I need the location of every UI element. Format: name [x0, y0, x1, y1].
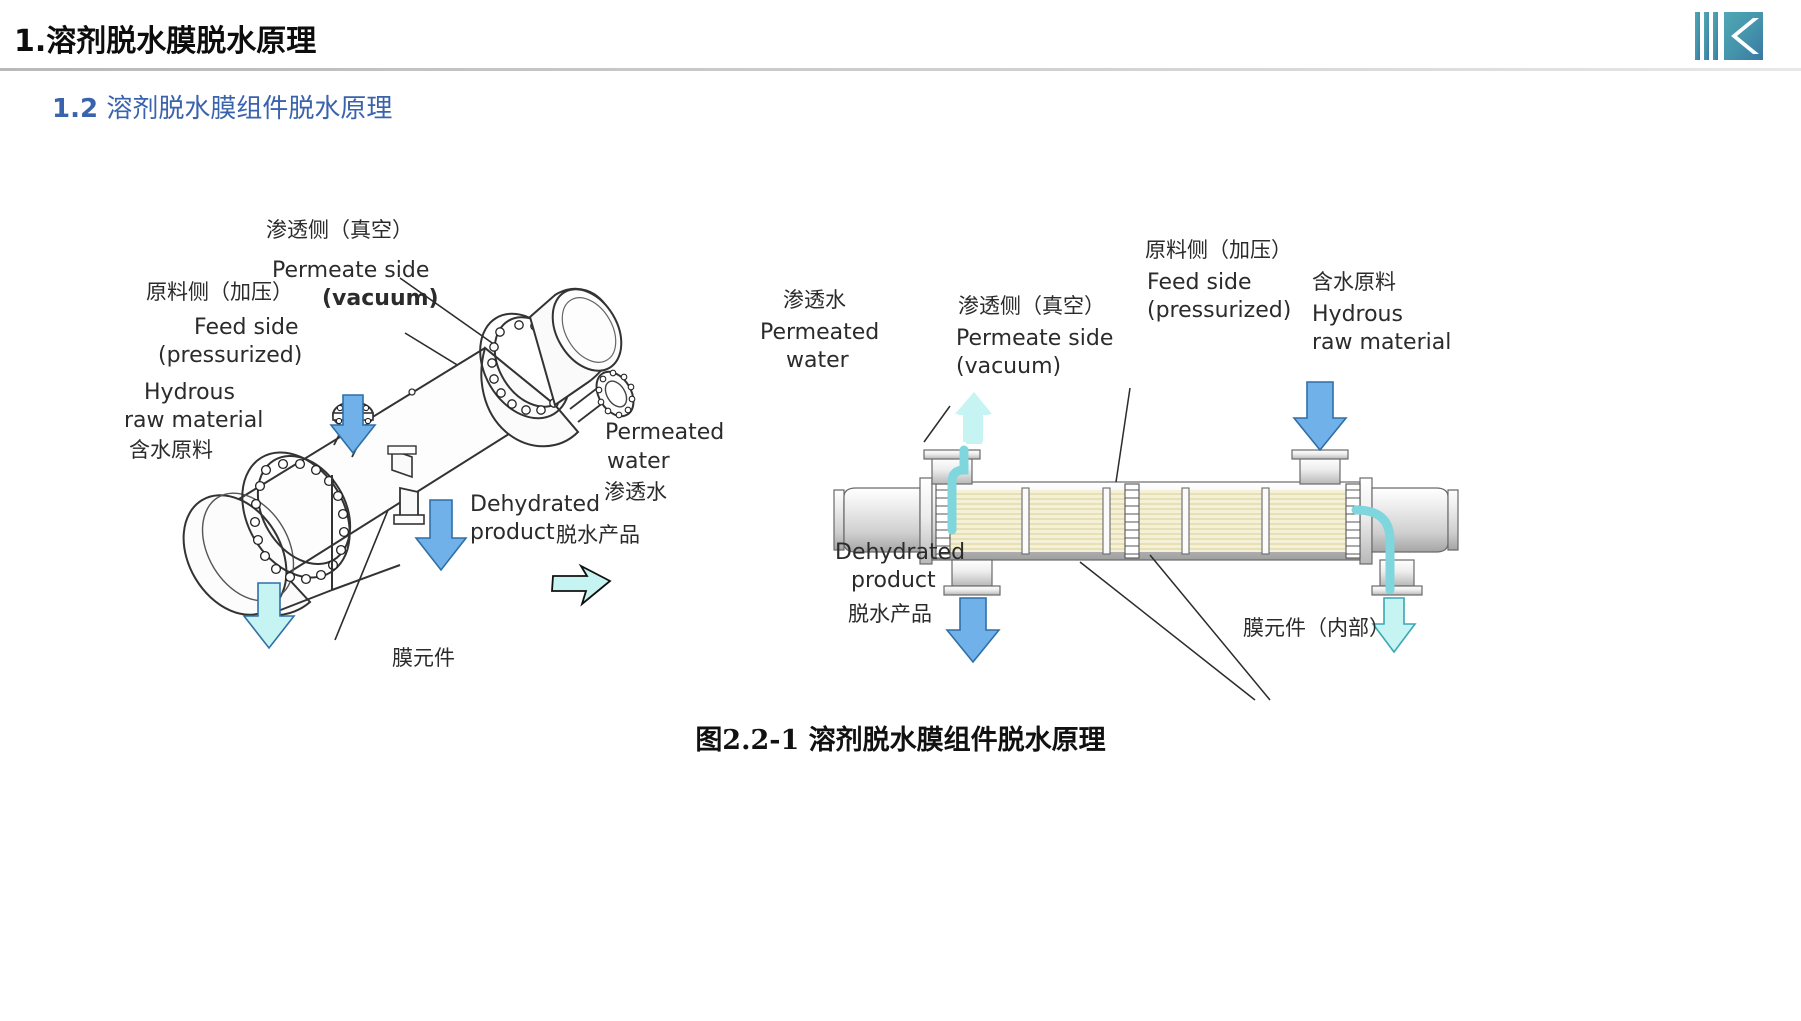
right-hydrous-label-cn: 含水原料 — [1312, 270, 1396, 295]
left-permeated-water-label-en-line2: water — [607, 449, 670, 475]
page-title: 1.溶剂脱水膜脱水原理 — [14, 16, 316, 60]
left-permeate-side-label-en: Permeate side — [272, 258, 429, 284]
right-hydrous-label-en-line2: raw material — [1312, 330, 1451, 356]
left-hydrous-label-cn: 含水原料 — [129, 438, 213, 463]
left-hydrous-label-en-line2: raw material — [124, 408, 263, 434]
left-feed-side-label-cn: 原料侧（加压） — [146, 280, 293, 305]
right-hydrous-en-1: Hydrous — [1312, 302, 1403, 327]
left-dehydrated-label-en-line1: Dehydrated — [470, 492, 600, 518]
left-dehydrated-label-en-line2: product — [470, 520, 555, 546]
permeated-water-arrow-icon — [552, 566, 610, 604]
section-subtitle: 1.2 溶剂脱水膜组件脱水原理 — [52, 88, 392, 125]
right-permeate-side-label-en-line2: (vacuum) — [956, 354, 1061, 380]
right-permeated-water-label-en-line1: Permeated — [760, 320, 879, 346]
left-permeate-side-label-cn: 渗透侧（真空） — [266, 218, 413, 243]
membrane-module-exterior-drawing — [100, 170, 880, 710]
right-permeated-en-2: water — [786, 348, 849, 373]
right-feed-side-label-en-line1: Feed side — [1147, 270, 1252, 296]
right-permeate-side-en-1: Permeate side — [956, 326, 1113, 351]
right-feed-side-label-en-line2: (pressurized) — [1147, 298, 1291, 324]
left-permeated-en-1: Permeated — [605, 420, 724, 445]
right-dehydrated-product-arrow-icon — [947, 598, 999, 662]
right-permeate-side-en-2: (vacuum) — [956, 354, 1061, 379]
right-permeated-water-label-en-line2: water — [786, 348, 849, 374]
right-permeated-water-arrow-icon — [955, 392, 992, 444]
left-feed-pressurized-en: (pressurized) — [158, 343, 302, 368]
left-feed-side-label-en: Feed side — [194, 315, 299, 341]
right-dehydrated-label-cn: 脱水产品 — [848, 602, 932, 627]
right-feed-side-en-2: (pressurized) — [1147, 298, 1291, 323]
right-membrane-element-label-cn: 膜元件（内部） — [1243, 616, 1390, 641]
left-feed-side-en-line1: Feed side — [194, 315, 299, 340]
left-hydrous-en-2: raw material — [124, 408, 263, 433]
dehydrated-product-arrow-icon — [416, 500, 466, 570]
left-permeate-vacuum-label-en: (vacuum) — [322, 286, 439, 312]
right-permeated-en-1: Permeated — [760, 320, 879, 345]
right-dehydrated-label-en-line1: Dehydrated — [835, 540, 965, 566]
left-hydrous-label-en-line1: Hydrous — [144, 380, 235, 406]
left-membrane-element-label-cn: 膜元件 — [392, 646, 455, 671]
section-subtitle-number: 1.2 — [52, 94, 98, 124]
right-dehydrated-en-2: product — [851, 568, 936, 593]
right-permeate-side-label-en-line1: Permeate side — [956, 326, 1113, 352]
left-permeated-water-label-en-line1: Permeated — [605, 420, 724, 446]
left-hydrous-en-1: Hydrous — [144, 380, 235, 405]
left-permeated-en-2: water — [607, 449, 670, 474]
left-dehydrated-label-cn: 脱水产品 — [556, 523, 640, 548]
right-hydrous-label-en-line1: Hydrous — [1312, 302, 1403, 328]
left-dehydrated-en-2: product — [470, 520, 555, 545]
right-dehydrated-en-1: Dehydrated — [835, 540, 965, 565]
slide-header: 1.溶剂脱水膜脱水原理 — [0, 0, 1801, 70]
left-permeate-side-en-line1: Permeate side — [272, 258, 429, 283]
left-permeate-vacuum-en: (vacuum) — [322, 286, 439, 311]
header-divider — [0, 68, 1801, 71]
right-hydrous-raw-material-arrow-icon — [1294, 382, 1346, 450]
left-dehydrated-en-1: Dehydrated — [470, 492, 600, 517]
figure-caption: 图2.2-1 溶剂脱水膜组件脱水原理 — [0, 718, 1801, 757]
company-logo-k-icon — [1691, 8, 1783, 64]
figure-area: 渗透侧（真空） Permeate side (vacuum) 原料侧（加压） F… — [0, 150, 1801, 710]
left-feed-pressurized-label-en: (pressurized) — [158, 343, 302, 369]
right-feed-side-label-cn: 原料侧（加压） — [1145, 238, 1292, 263]
section-subtitle-text: 溶剂脱水膜组件脱水原理 — [106, 94, 392, 124]
right-permeated-water-label-cn: 渗透水 — [783, 288, 846, 313]
right-feed-side-en-1: Feed side — [1147, 270, 1252, 295]
right-hydrous-en-2: raw material — [1312, 330, 1451, 355]
right-dehydrated-label-en-line2: product — [851, 568, 936, 594]
left-permeated-water-label-cn: 渗透水 — [604, 480, 667, 505]
right-permeate-side-label-cn: 渗透侧（真空） — [958, 294, 1105, 319]
